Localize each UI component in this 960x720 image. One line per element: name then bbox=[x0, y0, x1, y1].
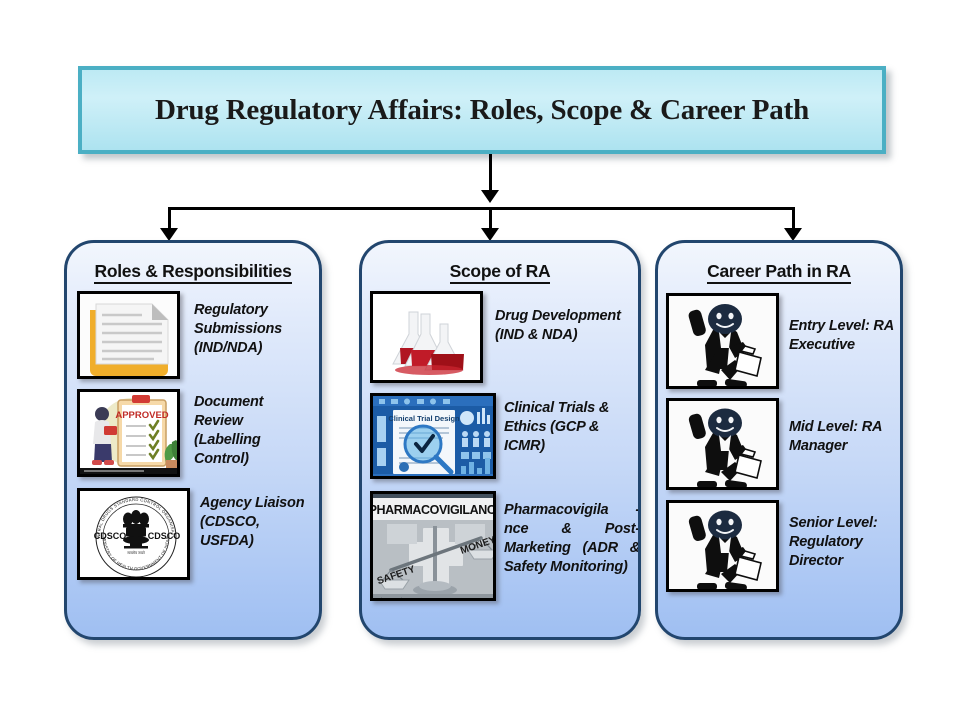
cdsco-label-right: CDSCO bbox=[148, 531, 181, 541]
scope-item-1-label: Clinical Trials & Ethics (GCP & ICMR) bbox=[504, 399, 640, 456]
scope-item-2: PHARMACOVIGILANCE bbox=[370, 491, 640, 601]
career-item-0-label: Entry Level: RA Executive bbox=[789, 317, 899, 355]
career-item-2-label: Senior Level: Regulatory Director bbox=[789, 514, 899, 571]
roles-item-0: Regulatory Submissions (IND/NDA) bbox=[77, 291, 317, 379]
roles-item-0-label: Regulatory Submissions (IND/NDA) bbox=[194, 301, 312, 358]
businessman-icon bbox=[666, 398, 779, 490]
panel-scope-header: Scope of RA bbox=[362, 261, 638, 282]
roles-item-2: CENTRAL DRUGS STANDARD CONTROL ORGANISAT… bbox=[77, 488, 317, 580]
businessman-icon bbox=[666, 293, 779, 389]
pharmacovigilance-title: PHARMACOVIGILANCE bbox=[373, 503, 496, 517]
connector-bus bbox=[168, 207, 795, 210]
panel-roles-header: Roles & Responsibilities bbox=[67, 261, 319, 282]
clinical-trial-design-icon: Clinical Trial Design bbox=[370, 393, 496, 479]
cdsco-label-left: CDSCO bbox=[94, 531, 127, 541]
svg-text:boq: boq bbox=[88, 474, 96, 477]
cdsco-logo-icon: CENTRAL DRUGS STANDARD CONTROL ORGANISAT… bbox=[77, 488, 190, 580]
panel-scope: Scope of RA bbox=[359, 240, 641, 640]
scope-item-1: Clinical Trial Design bbox=[370, 393, 640, 479]
panel-roles: Roles & Responsibilities bbox=[64, 240, 322, 640]
scope-item-2-label: Pharmacovigila -nce & Post-Marketing (AD… bbox=[504, 501, 640, 578]
career-item-1-label: Mid Level: RA Manager bbox=[789, 418, 899, 456]
connector-stem bbox=[489, 154, 492, 192]
businessman-icon bbox=[666, 500, 779, 592]
panel-career-header: Career Path in RA bbox=[658, 261, 900, 282]
scope-item-0: Drug Development (IND & NDA) bbox=[370, 291, 640, 383]
svg-text:APPROVED: APPROVED bbox=[115, 410, 168, 421]
document-stack-icon bbox=[77, 291, 180, 379]
connector-stem-arrowhead bbox=[481, 190, 499, 203]
svg-text:shutterstock: shutterstock bbox=[379, 597, 404, 601]
page-title: Drug Regulatory Affairs: Roles, Scope & … bbox=[155, 94, 809, 127]
title-banner: Drug Regulatory Affairs: Roles, Scope & … bbox=[78, 66, 886, 154]
career-item-0: Entry Level: RA Executive bbox=[666, 293, 902, 389]
scope-item-0-label: Drug Development (IND & NDA) bbox=[495, 307, 635, 345]
cdsco-motto: सत्यमेव जयते bbox=[127, 550, 145, 555]
panel-career: Career Path in RA bbox=[655, 240, 903, 640]
conical-flasks-icon bbox=[370, 291, 483, 383]
career-item-1: Mid Level: RA Manager bbox=[666, 398, 902, 490]
pharmacovigilance-scale-icon: PHARMACOVIGILANCE bbox=[370, 491, 496, 601]
roles-item-1-label: Document Review (Labelling Control) bbox=[194, 393, 312, 470]
roles-item-1: APPROVED bbox=[77, 389, 317, 477]
diagram-canvas: Drug Regulatory Affairs: Roles, Scope & … bbox=[0, 0, 960, 720]
approved-checklist-icon: APPROVED bbox=[77, 389, 180, 477]
roles-item-2-label: Agency Liaison (CDSCO, USFDA) bbox=[200, 494, 312, 551]
clinical-trial-caption: Clinical Trial Design bbox=[388, 414, 460, 423]
career-item-2: Senior Level: Regulatory Director bbox=[666, 500, 902, 592]
